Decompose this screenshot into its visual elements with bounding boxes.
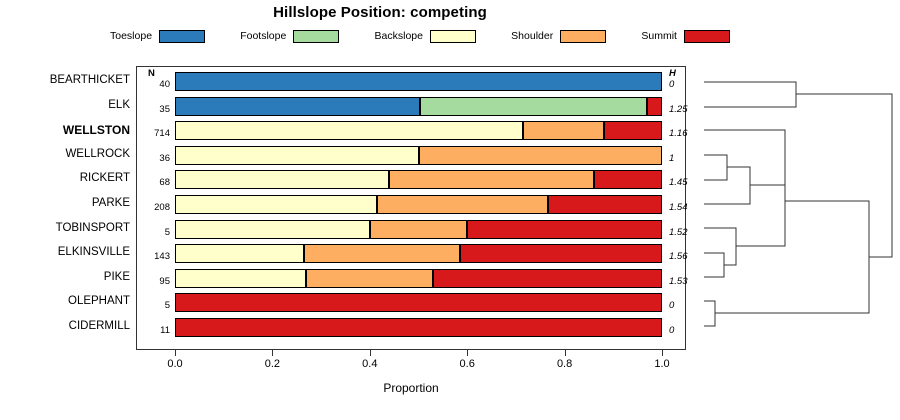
row-label-parke: PARKE xyxy=(0,197,130,209)
n-value: 208 xyxy=(140,202,170,213)
legend-label: Shoulder xyxy=(511,30,553,42)
legend-swatch-toeslope-icon xyxy=(159,30,205,43)
legend-label: Summit xyxy=(641,30,677,42)
legend-swatch-summit-icon xyxy=(684,30,730,43)
bar-segment-toeslope xyxy=(175,97,420,116)
bar-segment-shoulder xyxy=(389,170,594,189)
bar-segment-backslope xyxy=(175,170,389,189)
bar-segment-shoulder xyxy=(304,244,460,263)
bar-row-tobinsport xyxy=(175,220,662,239)
bar-segment-backslope xyxy=(175,244,304,263)
n-value: 714 xyxy=(140,128,170,139)
dendrogram xyxy=(690,60,900,360)
x-tick-label: 1.0 xyxy=(642,358,682,370)
x-tick-label: 0.8 xyxy=(545,358,585,370)
bar-segment-summit xyxy=(467,220,662,239)
legend-item-summit: Summit xyxy=(641,30,730,43)
dendro-join-wellrock-rickert xyxy=(704,155,727,180)
bar-segment-summit xyxy=(604,121,662,140)
legend-label: Toeslope xyxy=(110,30,152,42)
legend-item-toeslope: Toeslope xyxy=(110,30,205,43)
row-label-wellston: WELLSTON xyxy=(0,123,130,137)
x-tick-mark xyxy=(662,350,663,356)
row-label-bearthicket: BEARTHICKET xyxy=(0,74,130,86)
bar-row-elk xyxy=(175,97,662,116)
row-label-tobinsport: TOBINSPORT xyxy=(0,222,130,234)
x-axis-title: Proportion xyxy=(136,381,686,395)
n-value: 35 xyxy=(140,104,170,115)
legend-item-shoulder: Shoulder xyxy=(511,30,606,43)
legend: ToeslopeFootslopeBackslopeShoulderSummit xyxy=(110,26,730,46)
bar-segment-summit xyxy=(647,97,662,116)
legend-swatch-shoulder-icon xyxy=(560,30,606,43)
bar-segment-shoulder xyxy=(419,146,663,165)
legend-label: Footslope xyxy=(240,30,286,42)
bar-row-wellston xyxy=(175,121,662,140)
h-column-header: H xyxy=(669,68,676,79)
legend-swatch-footslope-icon xyxy=(293,30,339,43)
x-tick-label: 0.6 xyxy=(447,358,487,370)
bar-row-pike xyxy=(175,269,662,288)
x-tick-mark xyxy=(370,350,371,356)
bar-segment-backslope xyxy=(175,121,523,140)
chart-root: Hillslope Position: competing ToeslopeFo… xyxy=(0,0,900,420)
bar-segment-toeslope xyxy=(175,72,662,91)
legend-item-backslope: Backslope xyxy=(375,30,476,43)
bar-row-parke xyxy=(175,195,662,214)
n-value: 143 xyxy=(140,251,170,262)
dendro-join-bigcluster xyxy=(715,201,869,313)
row-label-rickert: RICKERT xyxy=(0,172,130,184)
bar-segment-shoulder xyxy=(306,269,433,288)
n-column-header: N xyxy=(148,68,155,79)
dendro-join-elkinsville-pike xyxy=(704,253,724,277)
bar-row-bearthicket xyxy=(175,72,662,91)
dendro-root-join xyxy=(796,94,892,257)
bar-segment-backslope xyxy=(175,146,419,165)
n-value: 5 xyxy=(140,300,170,311)
bar-segment-backslope xyxy=(175,195,377,214)
x-tick-mark xyxy=(272,350,273,356)
bar-row-cidermill xyxy=(175,318,662,337)
legend-label: Backslope xyxy=(375,30,423,42)
row-label-pike: PIKE xyxy=(0,271,130,283)
bar-segment-summit xyxy=(460,244,662,263)
legend-item-footslope: Footslope xyxy=(240,30,339,43)
n-value: 40 xyxy=(140,79,170,90)
n-value: 68 xyxy=(140,177,170,188)
bar-segment-shoulder xyxy=(523,121,603,140)
bar-segment-backslope xyxy=(175,269,306,288)
n-value: 36 xyxy=(140,153,170,164)
bar-segment-summit xyxy=(433,269,662,288)
bar-row-rickert xyxy=(175,170,662,189)
n-value: 95 xyxy=(140,276,170,287)
x-tick-mark xyxy=(175,350,176,356)
x-tick-mark xyxy=(565,350,566,356)
dendro-join-tobinsport-group xyxy=(704,228,736,265)
row-label-elkinsville: ELKINSVILLE xyxy=(0,246,130,258)
bar-row-elkinsville xyxy=(175,244,662,263)
n-value: 11 xyxy=(140,325,170,336)
row-label-elk: ELK xyxy=(0,99,130,111)
dendro-join-wellstongroup xyxy=(704,130,785,185)
bar-row-olephant xyxy=(175,293,662,312)
dendro-join-bearthicket-elk xyxy=(704,82,796,107)
x-tick-label: 0.2 xyxy=(252,358,292,370)
dendro-join-olephant-cidermill xyxy=(704,301,715,326)
bar-segment-summit xyxy=(548,195,662,214)
row-label-wellrock: WELLROCK xyxy=(0,148,130,160)
bar-segment-summit xyxy=(594,170,662,189)
bar-segment-footslope xyxy=(420,97,647,116)
bar-segment-shoulder xyxy=(370,220,467,239)
n-value: 5 xyxy=(140,227,170,238)
row-label-cidermill: CIDERMILL xyxy=(0,320,130,332)
bar-segment-backslope xyxy=(175,220,370,239)
x-tick-mark xyxy=(467,350,468,356)
x-tick-label: 0.0 xyxy=(155,358,195,370)
legend-swatch-backslope-icon xyxy=(430,30,476,43)
chart-title: Hillslope Position: competing xyxy=(0,4,760,21)
x-tick-label: 0.4 xyxy=(350,358,390,370)
bar-segment-shoulder xyxy=(377,195,547,214)
row-label-olephant: OLEPHANT xyxy=(0,295,130,307)
bar-row-wellrock xyxy=(175,146,662,165)
bar-segment-summit xyxy=(175,318,662,337)
dendro-join-midclusters xyxy=(736,157,785,246)
bar-segment-summit xyxy=(175,293,662,312)
